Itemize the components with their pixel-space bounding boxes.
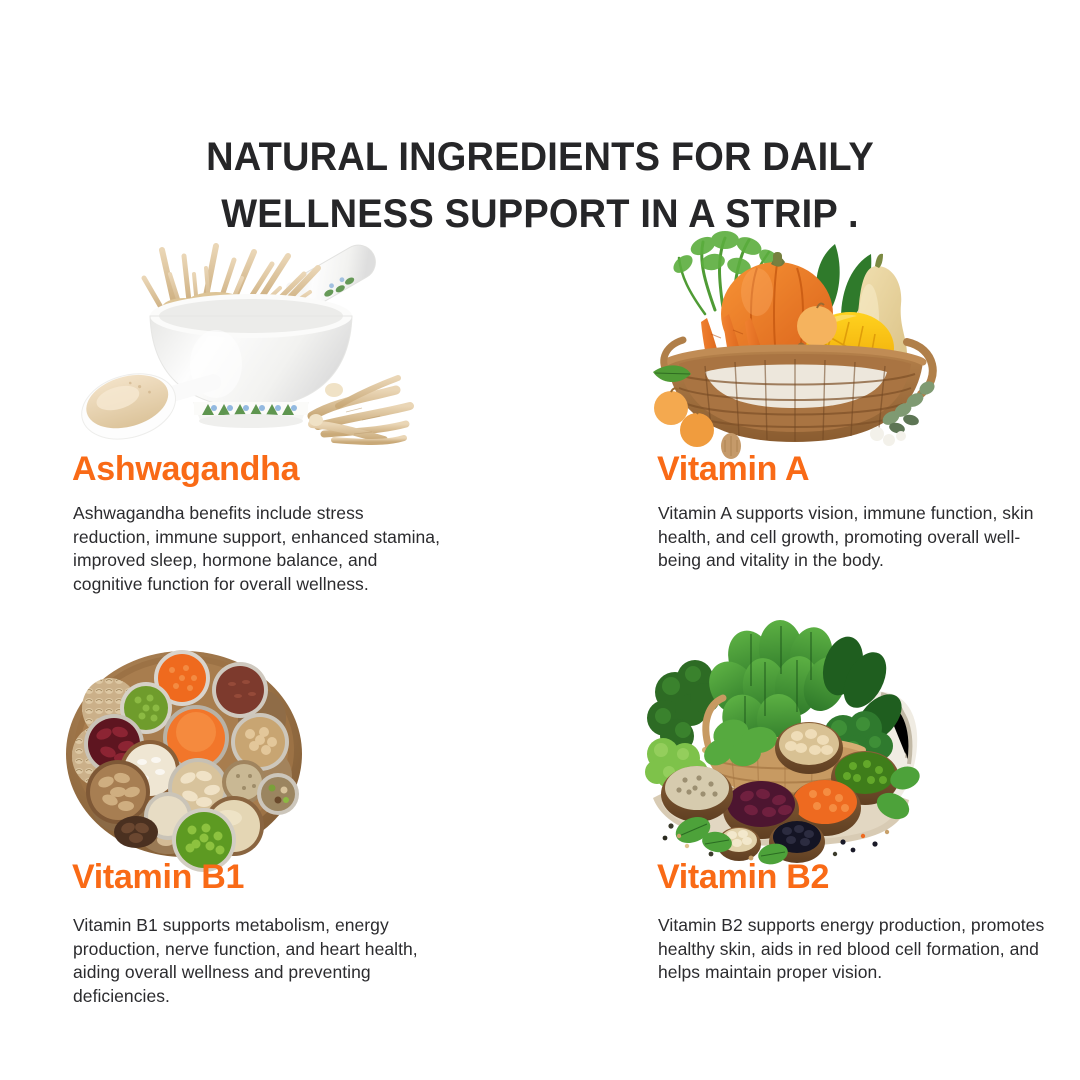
ingredient-card-grid: Ashwagandha Ashwagandha benefits include… (0, 222, 1080, 1052)
card-title-vitamin-b1: Vitamin B1 (72, 858, 486, 896)
poster-root: NATURAL INGREDIENTS FOR DAILY WELLNESS S… (0, 0, 1080, 1080)
leafy-greens-legumes-image (647, 630, 922, 860)
legume-grain-platter-image (64, 646, 304, 858)
ingredient-card-vitamin-b1[interactable]: Vitamin B1 Vitamin B1 supports metabolis… (66, 630, 486, 1008)
card-title-vitamin-a: Vitamin A (657, 450, 1071, 488)
ingredient-card-vitamin-b2[interactable]: Vitamin B2 Vitamin B2 supports energy pr… (651, 630, 1071, 985)
vitamin-b2-media (651, 630, 1071, 858)
card-body-vitamin-b1: Vitamin B1 supports metabolism, energy p… (73, 914, 445, 1008)
card-title-vitamin-b2: Vitamin B2 (657, 858, 1071, 896)
ingredient-card-vitamin-a[interactable]: Vitamin A Vitamin A supports vision, imm… (651, 222, 1071, 573)
vitamin-b1-media (66, 630, 486, 858)
card-body-vitamin-a: Vitamin A supports vision, immune functi… (658, 502, 1050, 573)
card-title-ashwagandha: Ashwagandha (72, 450, 486, 488)
card-body-vitamin-b2: Vitamin B2 supports energy production, p… (658, 914, 1050, 985)
mortar-pestle-ashwagandha-roots-image (66, 234, 436, 450)
ashwagandha-media (66, 222, 486, 450)
basket-orange-produce-image (645, 222, 945, 454)
vitamin-a-media (651, 222, 1071, 450)
card-body-ashwagandha: Ashwagandha benefits include stress redu… (73, 502, 445, 596)
ingredient-card-ashwagandha[interactable]: Ashwagandha Ashwagandha benefits include… (66, 222, 486, 596)
